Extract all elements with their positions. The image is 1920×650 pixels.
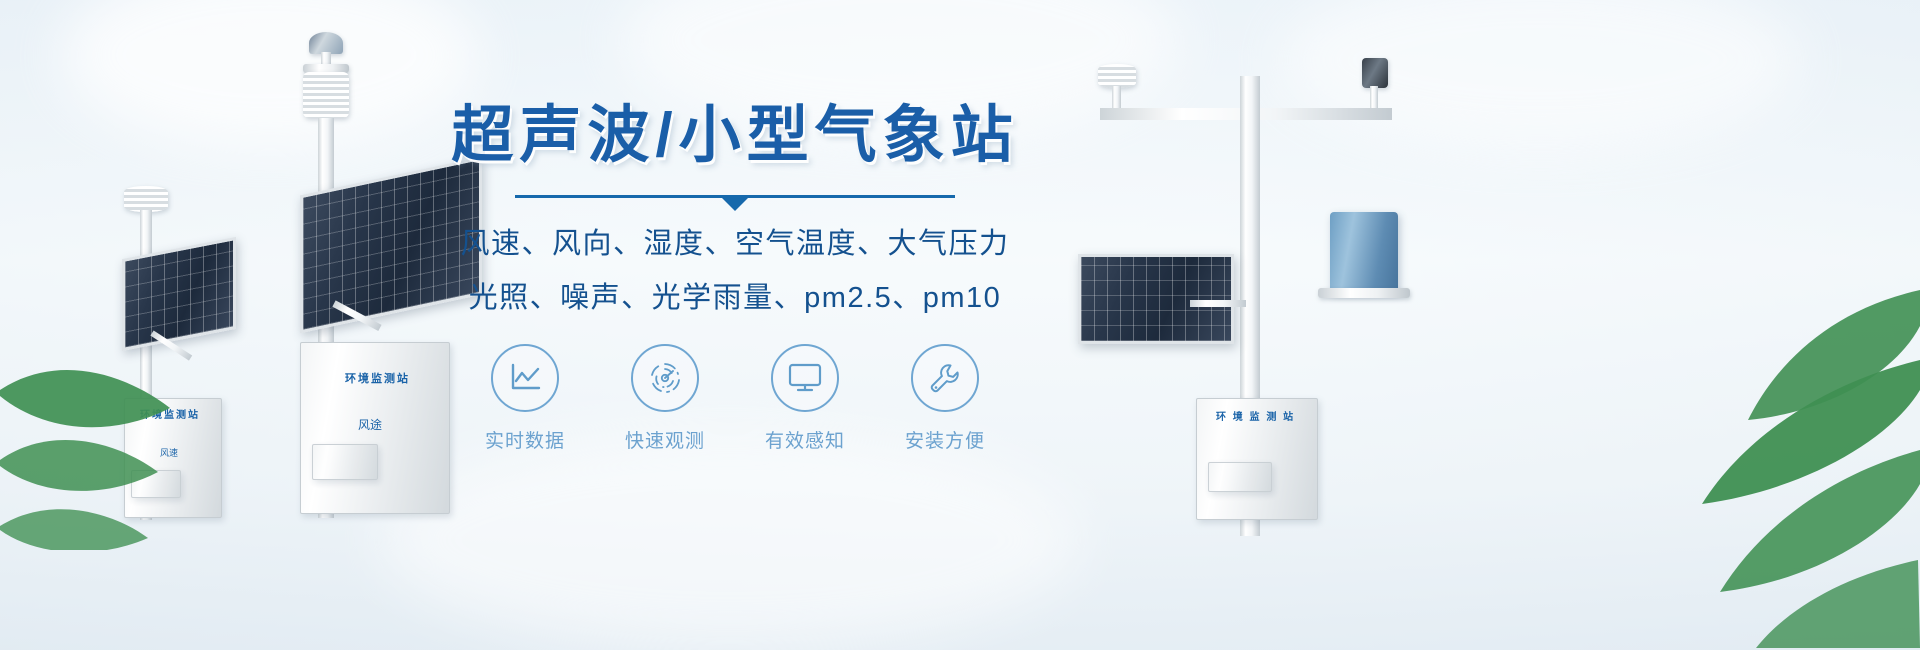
ultrasonic-sensor-head bbox=[309, 32, 343, 54]
feature-icon-circle bbox=[771, 344, 839, 412]
cabinet-vent bbox=[312, 444, 378, 480]
divider-arrow-icon bbox=[722, 198, 748, 211]
feature-label: 快速观测 bbox=[625, 426, 705, 453]
wind-vane-sensor bbox=[1362, 58, 1388, 88]
feature-icon-circle bbox=[491, 344, 559, 412]
panel-support-arm bbox=[1190, 300, 1246, 307]
cabinet-vent bbox=[1208, 462, 1272, 492]
cabinet-label: 环 境 监 测 站 bbox=[1216, 408, 1295, 423]
feature-item-fast-observation[interactable]: 快速观测 bbox=[615, 344, 715, 453]
subtitle-line-2: 光照、噪声、光学雨量、pm2.5、pm10 bbox=[435, 274, 1035, 316]
radiation-shield-icon bbox=[124, 186, 168, 212]
line-chart-icon bbox=[508, 362, 542, 394]
leaf-decoration bbox=[1390, 280, 1920, 650]
radiation-shield-icon bbox=[303, 72, 349, 118]
cloud-decoration bbox=[380, 430, 1080, 650]
subtitle-line-1: 风速、风向、湿度、空气温度、大气压力 bbox=[435, 220, 1035, 262]
feature-list: 实时数据 bbox=[435, 344, 1035, 453]
feature-icon-circle bbox=[911, 344, 979, 412]
radiation-shield-icon bbox=[1098, 64, 1136, 88]
wrench-tool-icon bbox=[927, 360, 963, 396]
banner-text-block: 超声波/小型气象站 风速、风向、湿度、空气温度、大气压力 光照、噪声、光学雨量、… bbox=[435, 100, 1035, 453]
radar-scan-icon bbox=[647, 360, 683, 396]
cloud-decoration bbox=[1280, 0, 1800, 150]
cabinet-label: 环境监测站 bbox=[345, 370, 410, 386]
leaf-decoration bbox=[0, 330, 210, 550]
solar-panel bbox=[1078, 254, 1234, 344]
feature-item-realtime-data[interactable]: 实时数据 bbox=[475, 344, 575, 453]
brand-logo-text: 风途 bbox=[358, 416, 382, 433]
page-title: 超声波/小型气象站 bbox=[435, 100, 1035, 171]
title-divider bbox=[515, 195, 955, 198]
optical-rain-gauge bbox=[1330, 212, 1398, 292]
monitor-screen-icon bbox=[787, 362, 823, 394]
feature-icon-circle bbox=[631, 344, 699, 412]
feature-item-effective-sensing[interactable]: 有效感知 bbox=[755, 344, 855, 453]
cloud-decoration bbox=[60, 0, 480, 150]
feature-label: 实时数据 bbox=[485, 426, 565, 453]
feature-label: 有效感知 bbox=[765, 426, 845, 453]
product-banner: 环境监测站 风速 环境监测站 风途 环 境 监 测 站 bbox=[0, 0, 1920, 650]
feature-item-easy-installation[interactable]: 安装方便 bbox=[895, 344, 995, 453]
feature-label: 安装方便 bbox=[905, 426, 985, 453]
